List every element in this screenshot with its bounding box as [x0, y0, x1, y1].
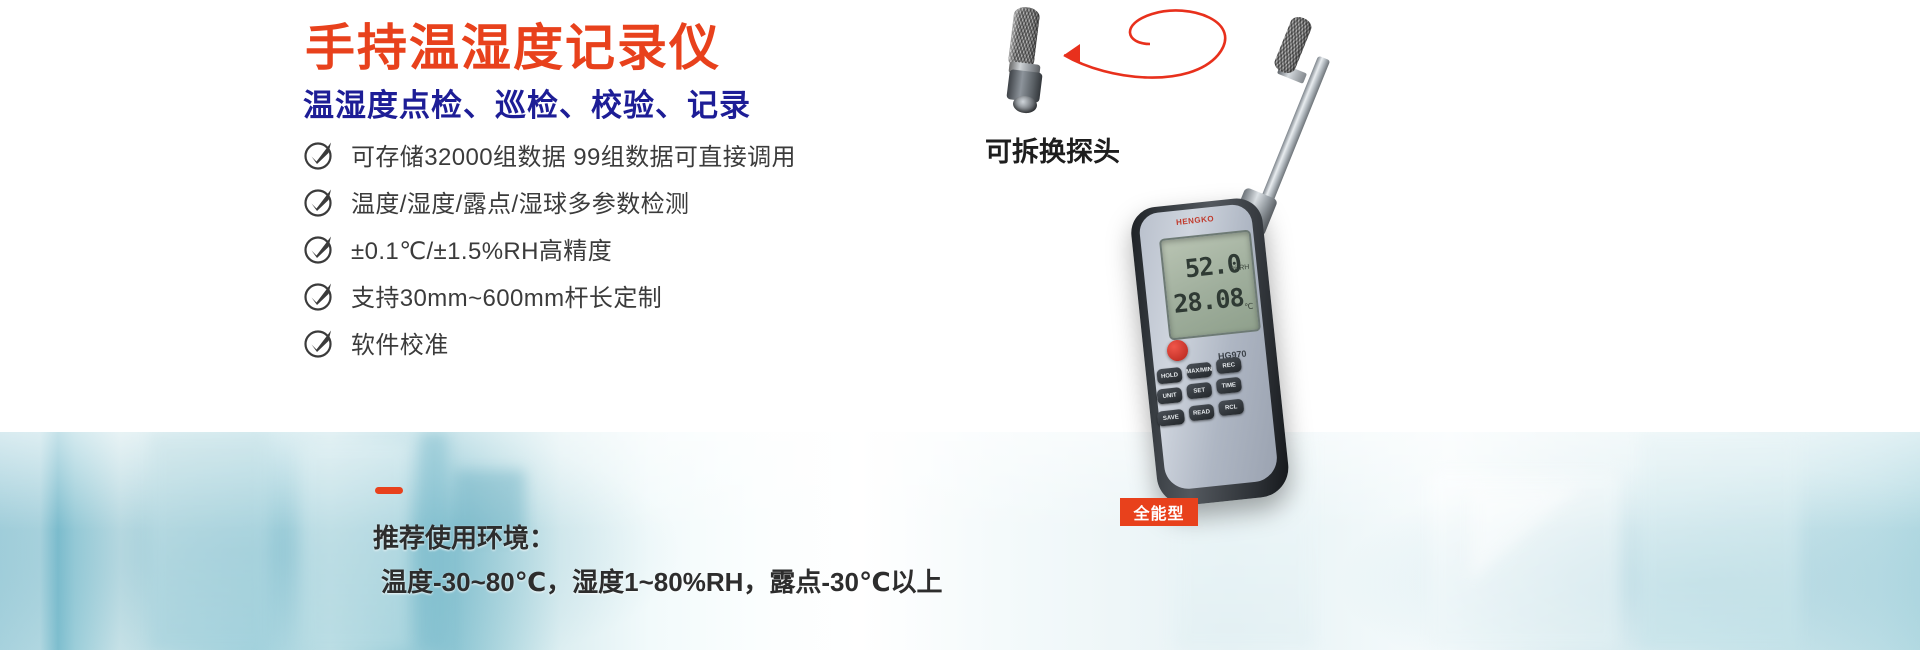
list-item: ±0.1℃/±1.5%RH高精度 — [303, 225, 1063, 271]
list-item: 可存储32000组数据 99组数据可直接调用 — [303, 131, 1063, 177]
keypad-button[interactable]: TIME — [1216, 377, 1242, 395]
feature-text: ±0.1℃/±1.5%RH高精度 — [351, 231, 612, 266]
lcd-humidity-unit: % RH — [1231, 264, 1250, 273]
environment-label: 推荐使用环境： — [373, 518, 555, 555]
bg-shape — [150, 432, 270, 650]
keypad-button[interactable]: REC — [1216, 357, 1242, 375]
meter-device-image: HENGKO 52.0 % RH 28.08 ℃ HG970 HOLD MAX/… — [1060, 10, 1370, 510]
list-item: 支持30mm~600mm杆长定制 — [303, 272, 1063, 318]
feature-text: 温度/湿度/露点/湿球多参数检测 — [351, 184, 689, 219]
circle-check-icon — [303, 137, 337, 171]
keypad-button[interactable]: HOLD — [1156, 367, 1182, 385]
bg-shape — [1640, 432, 1800, 650]
circle-check-icon — [303, 231, 337, 265]
circle-check-icon — [303, 325, 337, 359]
feature-text: 可存储32000组数据 99组数据可直接调用 — [351, 137, 796, 172]
feature-list: 可存储32000组数据 99组数据可直接调用 温度/湿度/露点/湿球多参数检测 … — [303, 131, 1063, 366]
keypad-button[interactable]: MAX/MIN — [1186, 362, 1212, 380]
banner-subtitle: 温湿度点检、巡检、校验、记录 — [303, 80, 751, 125]
probe-rod-mesh-filter — [1272, 14, 1314, 76]
device-lcd-screen: 52.0 % RH 28.08 ℃ — [1159, 229, 1261, 340]
feature-text: 软件校准 — [351, 325, 449, 360]
lcd-temperature-value: 28.08 — [1172, 283, 1245, 319]
keypad-button[interactable]: SET — [1186, 382, 1212, 400]
circle-check-icon — [303, 278, 337, 312]
keypad-button[interactable]: READ — [1188, 404, 1214, 422]
list-item: 软件校准 — [303, 319, 1063, 365]
feature-text: 支持30mm~600mm杆长定制 — [351, 278, 662, 313]
section-marker — [375, 487, 403, 494]
circle-check-icon — [303, 184, 337, 218]
keypad-button[interactable]: UNIT — [1156, 387, 1182, 405]
status-badge: 全能型 — [1120, 498, 1198, 526]
banner-title: 手持温湿度记录仪 — [305, 8, 721, 80]
keypad-button[interactable]: RCL — [1218, 399, 1244, 417]
background-bottom-panel — [0, 432, 1920, 650]
device-keypad: HOLD MAX/MIN REC UNIT SET TIME SAVE READ… — [1152, 357, 1272, 486]
list-item: 温度/湿度/露点/湿球多参数检测 — [303, 178, 1063, 224]
keypad-button[interactable]: SAVE — [1157, 409, 1185, 427]
product-banner: 手持温湿度记录仪 温湿度点检、巡检、校验、记录 可存储32000组数据 99组数… — [0, 0, 1920, 650]
environment-value: 温度-30~80℃，湿度1~80%RH，露点-30℃以上 — [381, 562, 942, 599]
bg-shape — [1470, 487, 1580, 582]
lcd-temperature-unit: ℃ — [1244, 302, 1254, 312]
